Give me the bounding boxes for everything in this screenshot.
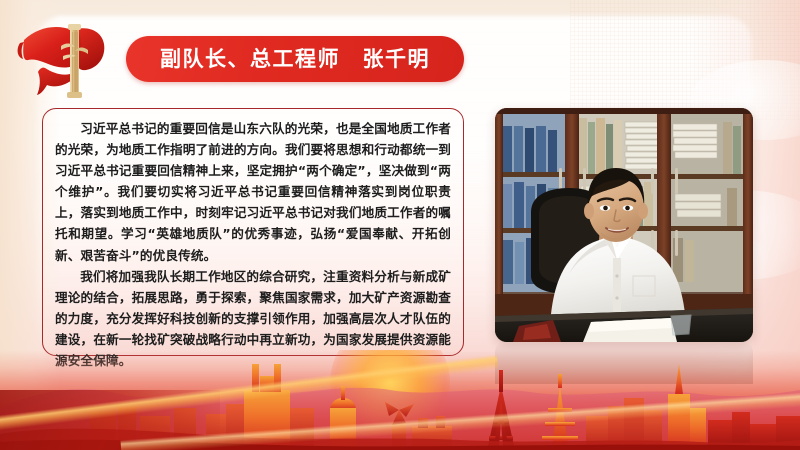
city-skyline-silhouette (0, 350, 800, 450)
title-banner: 副队长、总工程师 张千明 (126, 36, 464, 82)
paragraph-1: 习近平总书记的重要回信是山东六队的光荣，也是全国地质工作者的光荣，为地质工作指明… (55, 118, 451, 266)
title-text: 副队长、总工程师 张千明 (160, 49, 430, 70)
skyline-buildings (0, 350, 800, 450)
background-texture (570, 0, 800, 120)
red-flag-with-gold-column-icon (14, 16, 126, 102)
portrait-photo (495, 108, 753, 342)
content-text-box: 习近平总书记的重要回信是山东六队的光荣，也是全国地质工作者的光荣，为地质工作指明… (42, 108, 464, 356)
slide-canvas: 副队长、总工程师 张千明 习近平总书记的重要回信是山东六队的光荣，也是全国地质工… (0, 0, 800, 450)
